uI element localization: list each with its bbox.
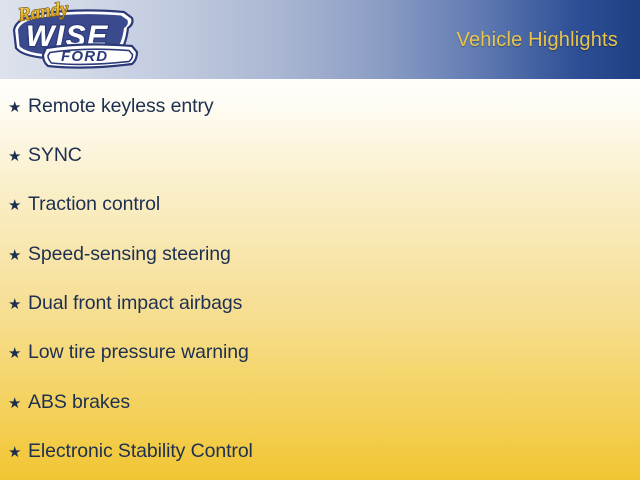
list-item-label: Electronic Stability Control [28,442,253,462]
page-header: WISE WISE Randy FORD Vehicle Highlights [0,0,640,79]
star-icon: ★ [8,100,28,115]
list-item-label: Speed-sensing steering [28,245,231,265]
list-item: ★ Remote keyless entry [8,94,214,120]
list-item: ★ Traction control [8,192,160,218]
list-item: ★ SYNC [8,143,82,169]
star-icon: ★ [8,346,28,361]
randy-wise-ford-logo: WISE WISE Randy FORD [6,0,146,79]
star-icon: ★ [8,198,28,213]
list-item: ★ ABS brakes [8,390,130,416]
list-item-label: Dual front impact airbags [28,294,242,314]
vehicle-highlights-page: WISE WISE Randy FORD Vehicle Highlights [0,0,640,480]
logo-ford-banner: FORD [43,44,137,67]
list-item: ★ Speed-sensing steering [8,242,231,268]
list-item-label: Traction control [28,195,160,215]
list-item-label: Low tire pressure warning [28,343,249,363]
page-title: Vehicle Highlights [457,29,618,52]
list-item-label: Remote keyless entry [28,97,214,117]
svg-text:FORD: FORD [61,48,108,65]
star-icon: ★ [8,297,28,312]
list-item: ★ Low tire pressure warning [8,340,249,366]
list-item: ★ Electronic Stability Control [8,439,253,465]
star-icon: ★ [8,248,28,263]
list-item-label: SYNC [28,146,82,166]
list-item-label: ABS brakes [28,393,130,413]
highlights-panel: ★ Remote keyless entry ★ SYNC ★ Traction… [0,79,640,480]
list-item: ★ Dual front impact airbags [8,291,242,317]
star-icon: ★ [8,396,28,411]
star-icon: ★ [8,149,28,164]
star-icon: ★ [8,445,28,460]
